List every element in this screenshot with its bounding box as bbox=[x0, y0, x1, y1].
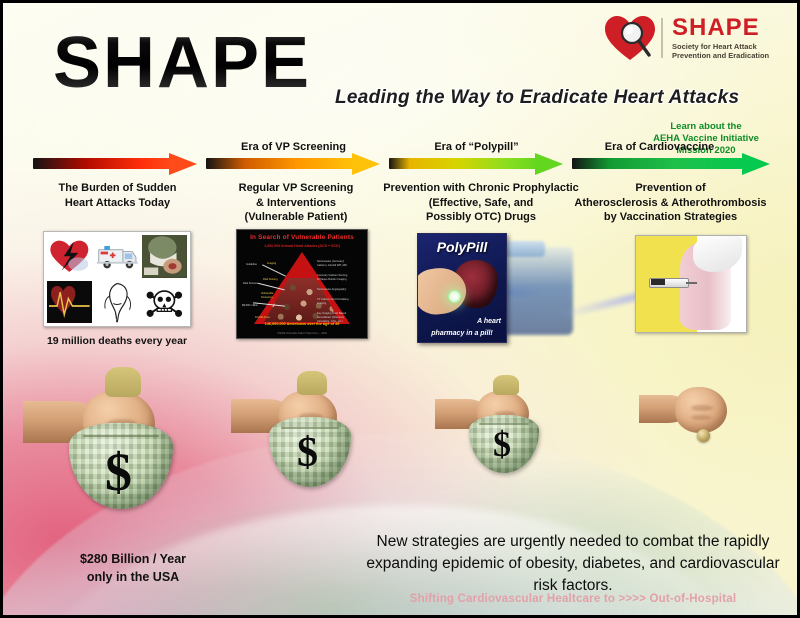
dollar-sign: $ bbox=[493, 423, 511, 465]
vp-label-right-6: CT Calcium and Circulating bbox=[317, 298, 349, 301]
vp-label-left-2: Guideline bbox=[246, 263, 257, 266]
polypill-line2: pharmacy in a pill! bbox=[418, 330, 506, 337]
logo-subtitle-line1: Society for Heart Attack bbox=[672, 42, 769, 51]
vp-label-right-2: Calcium, Carotid IMT, ABI bbox=[317, 264, 347, 267]
logo-name: SHAPE bbox=[672, 16, 769, 40]
vp-poster-subtitle: 1,500,000 Annual Heart Attacks (ACS + SC… bbox=[237, 244, 367, 248]
arrow-polypill bbox=[389, 153, 564, 175]
polypill-line1: A heart bbox=[477, 318, 501, 325]
vp-label-left-1: Imaging bbox=[267, 262, 276, 265]
vp-label-left-6: Screening bbox=[261, 296, 273, 299]
tagline: Leading the Way to Eradicate Heart Attac… bbox=[335, 87, 739, 109]
burden-collage-caption: 19 million deaths every year bbox=[19, 335, 215, 347]
skull-crossbones-icon bbox=[142, 281, 187, 324]
polypill-poster: PolyPill A heart pharmacy in a pill! bbox=[417, 233, 507, 343]
knuckle bbox=[691, 405, 713, 411]
heart-magnifier-icon bbox=[603, 13, 657, 63]
vp-label-left-5: Vulnerable bbox=[261, 292, 273, 295]
vp-label-right-7: Imaging bbox=[317, 302, 326, 305]
logo-divider bbox=[661, 18, 663, 58]
closing-statement: New strategies are urgently needed to co… bbox=[353, 531, 793, 597]
vp-label-right-5: Noninvasive Angiography bbox=[317, 288, 346, 291]
vp-poster-footer: SHAPE Vulnerable Patient Task Force — 20… bbox=[237, 332, 367, 335]
coin-tiny bbox=[639, 371, 779, 461]
vp-label-right-9: Surveillance (Chemical, bbox=[317, 316, 344, 319]
syringe-plunger bbox=[651, 279, 664, 285]
arrow-cardiovaccine bbox=[572, 153, 772, 175]
vp-label-right-8: Key Imaging Tools Based bbox=[317, 312, 346, 315]
era-caption-cardiovaccine: Prevention of Atherosclerosis & Atheroth… bbox=[563, 181, 778, 225]
heart-lightning-icon bbox=[47, 235, 92, 278]
vp-label-right-4: & Plaque Burden Imaging bbox=[317, 278, 347, 281]
bag-neck bbox=[493, 375, 519, 395]
logo-subtitle-line2: Prevention and Eradication bbox=[672, 51, 769, 60]
logo-text: SHAPE Society for Heart Attack Preventio… bbox=[672, 16, 769, 61]
syringe-needle bbox=[686, 282, 697, 284]
vp-poster-base: 146,000,000 Americans over the age of 35 bbox=[237, 322, 367, 326]
aeha-line1: Learn about the bbox=[611, 121, 800, 133]
dollar-sign: $ bbox=[105, 441, 132, 503]
cardiovaccine-illustration bbox=[635, 235, 747, 333]
vp-label-left-3: Risk Scoring bbox=[263, 278, 278, 281]
era-label-polypill: Era of “Polypill” bbox=[389, 141, 564, 153]
ambulance-icon bbox=[95, 235, 140, 278]
era-caption-burden: The Burden of Sudden Heart Attacks Today bbox=[25, 181, 210, 210]
bag-tie bbox=[83, 435, 159, 437]
logo-subtitle: Society for Heart Attack Prevention and … bbox=[672, 42, 769, 61]
vp-label-left-7: $$ 500 million bbox=[242, 304, 258, 307]
angiogram-sketch-icon bbox=[95, 281, 140, 324]
era-caption-polypill: Prevention with Chronic Prophylactic (Ef… bbox=[381, 181, 581, 225]
arrow-vp-screening bbox=[206, 153, 381, 175]
vp-label-left-8: 10,000 Amer. bbox=[255, 316, 270, 319]
vulnerable-patients-poster: In Search of Vulnerable Patients 1,500,0… bbox=[236, 229, 368, 339]
shape-logo: SHAPE Society for Heart Attack Preventio… bbox=[603, 9, 799, 67]
money-bag-medium: $ bbox=[231, 365, 401, 490]
bag-neck bbox=[105, 367, 141, 397]
cost-caption: $280 Billion / Year only in the USA bbox=[43, 551, 223, 586]
polypill-title: PolyPill bbox=[418, 239, 506, 255]
closing-footer: Shifting Cardiovascular Healtcare to >>>… bbox=[353, 593, 793, 605]
era-caption-vp-screening: Regular VP Screening & Interventions (Vu… bbox=[201, 181, 391, 225]
arrow-burden bbox=[33, 153, 198, 175]
coin bbox=[697, 429, 710, 442]
vp-label-right-3: Coronary Calcium Scoring bbox=[317, 274, 347, 277]
shape-infographic-poster: SHAPE Leading the Way to Eradicate Heart… bbox=[0, 0, 800, 618]
ecg-heart-icon bbox=[47, 281, 92, 324]
dollar-sign: $ bbox=[297, 429, 318, 477]
glowing-pill-icon bbox=[448, 290, 461, 303]
surgery-photo bbox=[142, 235, 187, 278]
era-label-vp-screening: Era of VP Screening bbox=[206, 141, 381, 153]
burden-collage bbox=[43, 231, 191, 327]
page-title: SHAPE bbox=[53, 27, 311, 99]
vp-poster-title: In Search of Vulnerable Patients bbox=[237, 234, 367, 241]
money-bag-small: $ bbox=[435, 369, 585, 479]
polypill-scene: PolyPill A heart pharmacy in a pill! bbox=[417, 229, 597, 347]
vp-label-right-1: Noninvasive (Coronary) bbox=[317, 260, 344, 263]
money-bag-large: $ bbox=[23, 361, 223, 511]
vp-label-left-4: Risk Scores bbox=[243, 282, 257, 285]
bag-neck bbox=[297, 371, 327, 395]
knuckle bbox=[691, 415, 711, 420]
era-label-cardiovaccine: Era of Cardiovaccine bbox=[572, 141, 747, 153]
